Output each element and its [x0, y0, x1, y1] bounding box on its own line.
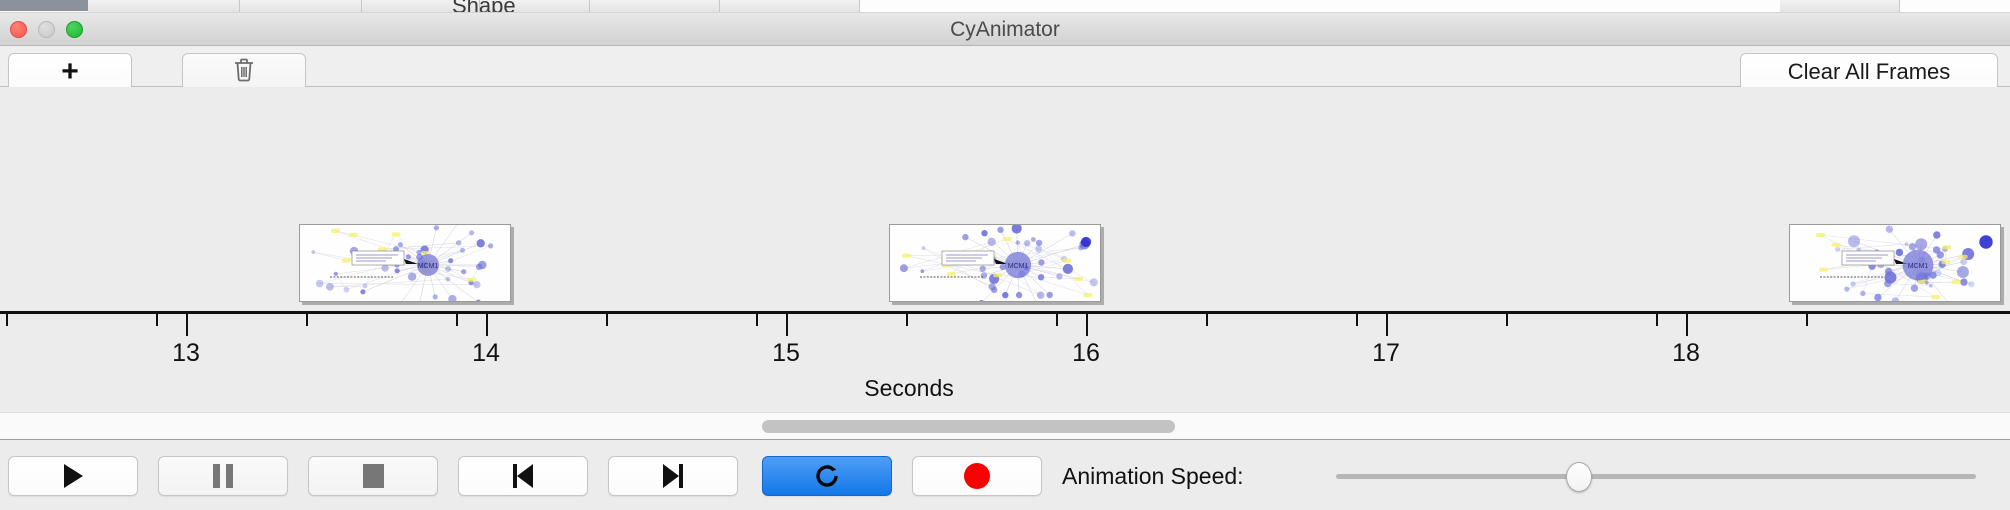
slider-track[interactable] — [1336, 474, 1976, 479]
svg-text:MCM1: MCM1 — [1908, 263, 1929, 270]
svg-text:MCM1: MCM1 — [418, 263, 439, 270]
background-app-strip: Shape — [0, 0, 2010, 13]
axis-tick-label: 18 — [1672, 339, 1700, 368]
svg-text:MCM1: MCM1 — [1008, 263, 1029, 270]
frames-layer: MCM1MCM1MCM1 — [0, 87, 2010, 312]
frame-thumbnail-2[interactable]: MCM1 — [889, 224, 1101, 302]
axis-tick-minor — [1806, 314, 1808, 326]
axis-tick-minor — [606, 314, 608, 326]
toolbar: + Clear All Frames — [0, 46, 2010, 87]
timeline-scrollbar[interactable] — [0, 412, 2010, 440]
axis-tick-minor — [1506, 314, 1508, 326]
axis-tick-label: 13 — [172, 339, 200, 368]
loop-button[interactable] — [762, 456, 892, 496]
axis-tick-major — [786, 314, 788, 336]
delete-frame-button[interactable] — [182, 53, 306, 91]
axis-tick-major — [1386, 314, 1388, 336]
axis-tick-minor — [1206, 314, 1208, 326]
axis-tick-major — [1686, 314, 1688, 336]
timeline-scrollbar-thumb[interactable] — [762, 420, 1175, 433]
skip-back-icon — [513, 464, 533, 488]
axis-tick-minor — [906, 314, 908, 326]
timeline-axis-line — [0, 311, 2010, 314]
play-button[interactable] — [8, 456, 138, 496]
background-dark-block — [0, 0, 88, 11]
skip-forward-button[interactable] — [608, 456, 738, 496]
pause-icon — [213, 464, 233, 488]
frame-thumbnail-1[interactable]: MCM1 — [299, 224, 511, 302]
axis-tick-minor — [1056, 314, 1058, 326]
axis-tick-minor — [1356, 314, 1358, 326]
stop-button[interactable] — [308, 456, 438, 496]
title-bar: CyAnimator — [0, 13, 2010, 46]
loop-icon — [812, 461, 842, 491]
axis-title: Seconds — [0, 375, 1818, 402]
axis-tick-minor — [456, 314, 458, 326]
axis-tick-major — [186, 314, 188, 336]
axis-tick-minor — [6, 314, 8, 326]
pause-button[interactable] — [158, 456, 288, 496]
record-button[interactable] — [912, 456, 1042, 496]
skip-back-button[interactable] — [458, 456, 588, 496]
axis-tick-label: 16 — [1072, 339, 1100, 368]
play-icon — [64, 464, 83, 488]
playback-control-bar: Animation Speed: — [0, 441, 2010, 510]
axis-tick-major — [1086, 314, 1088, 336]
axis-tick-minor — [756, 314, 758, 326]
cyanimator-window: Shape CyAnimator + Clear All Frame — [0, 0, 2010, 510]
record-icon — [964, 463, 990, 489]
axis-tick-minor — [1656, 314, 1658, 326]
axis-tick-major — [486, 314, 488, 336]
slider-thumb[interactable] — [1566, 462, 1592, 492]
stop-icon — [363, 464, 384, 488]
clear-all-frames-button[interactable]: Clear All Frames — [1740, 53, 1998, 91]
axis-tick-label: 14 — [472, 339, 500, 368]
window-title: CyAnimator — [0, 13, 2010, 46]
axis-tick-label: 15 — [772, 339, 800, 368]
network-graph-preview: MCM1 — [890, 225, 1100, 301]
network-graph-preview: MCM1 — [300, 225, 510, 301]
animation-speed-slider[interactable] — [1336, 456, 1976, 496]
trash-icon — [232, 57, 256, 88]
axis-tick-minor — [306, 314, 308, 326]
axis-tick-label: 17 — [1372, 339, 1400, 368]
timeline-panel[interactable]: MCM1MCM1MCM1 2131415161718 Seconds — [0, 87, 2010, 412]
skip-forward-icon — [663, 464, 683, 488]
network-graph-preview: MCM1 — [1790, 225, 2000, 301]
plus-icon: + — [61, 57, 79, 87]
add-frame-button[interactable]: + — [8, 53, 132, 91]
axis-tick-minor — [156, 314, 158, 326]
frame-thumbnail-3[interactable]: MCM1 — [1789, 224, 2001, 302]
animation-speed-label: Animation Speed: — [1062, 456, 1244, 496]
